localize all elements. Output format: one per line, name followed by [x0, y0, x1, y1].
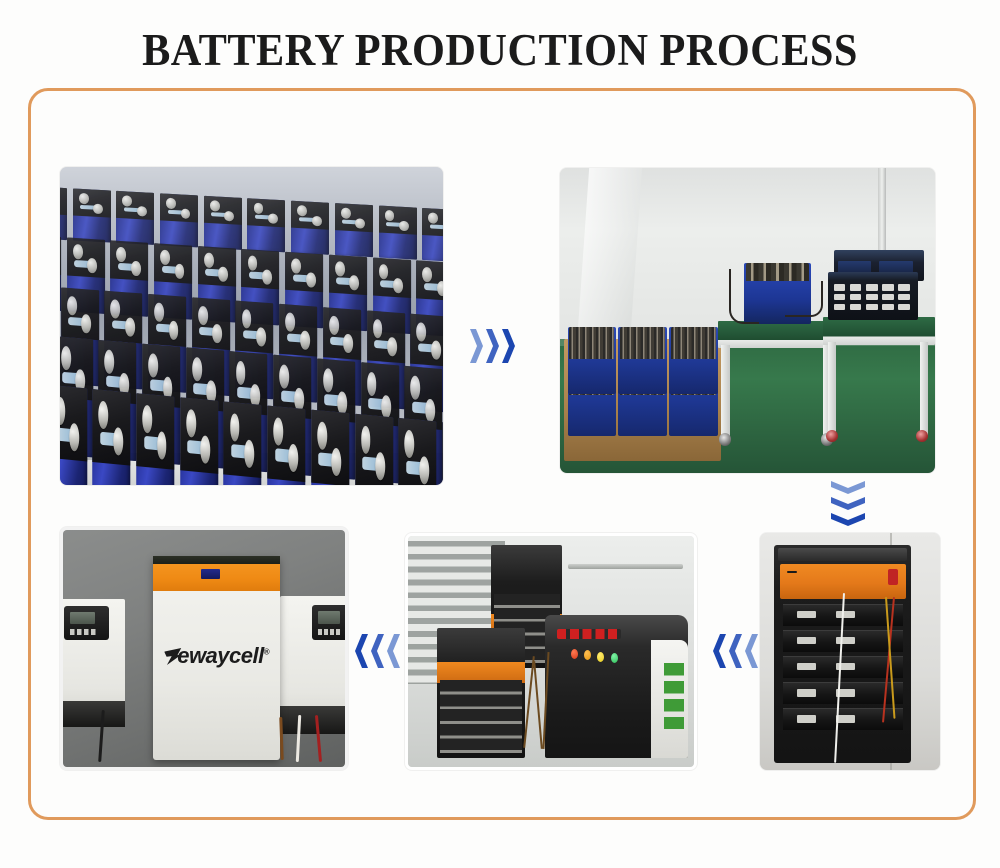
- cell-top: [67, 238, 105, 279]
- battery-cell: [335, 203, 373, 257]
- cell-terminal-positive: [204, 253, 214, 268]
- cell-top: [379, 206, 417, 235]
- arrow-assembly-to-product: [355, 634, 400, 668]
- battery-cell: [399, 418, 437, 485]
- cell-terminal-negative: [306, 273, 316, 288]
- battery-module-stack-4: [568, 327, 617, 394]
- cell-top: [61, 287, 99, 340]
- test-cable-bundle: [729, 269, 759, 324]
- battery-module-stack-5: [618, 327, 667, 394]
- indicator-lamp-yellow: [597, 652, 604, 662]
- cell-top: [268, 406, 306, 482]
- test-cable-2: [785, 281, 823, 318]
- cell-terminal-positive: [341, 208, 351, 219]
- battery-cell: [379, 206, 417, 260]
- chevron-left-icon: [355, 634, 368, 668]
- battery-cell: [292, 201, 330, 255]
- inverter-left: [60, 599, 125, 727]
- cell-terminal-negative: [268, 213, 278, 224]
- trademark-symbol: ®: [264, 648, 269, 657]
- cell-terminal-negative: [125, 317, 135, 337]
- workbench-2-top: [823, 317, 936, 344]
- cell-terminal-positive: [192, 357, 202, 381]
- indicator-lamp-green: [611, 653, 618, 663]
- battery-rack-front: [437, 628, 526, 757]
- page-title: BATTERY PRODUCTION PROCESS: [30, 24, 970, 76]
- cell-top: [204, 196, 242, 225]
- battery-cell: [160, 193, 198, 247]
- cell-top: [224, 402, 262, 478]
- cell-top: [180, 398, 218, 474]
- cell-top: [329, 255, 367, 296]
- battery-cell: [423, 208, 443, 262]
- photo-pack-assembly: [405, 533, 697, 770]
- arrow-testing-to-rack: [831, 481, 865, 526]
- battery-cell: [355, 414, 393, 485]
- cell-terminal-negative: [137, 206, 147, 217]
- photo-battery-rack: [760, 533, 940, 770]
- chevron-left-icon: [713, 634, 726, 668]
- wall-conduit: [568, 564, 682, 570]
- cell-terminal-negative: [425, 398, 435, 422]
- chevron-left-icon: [745, 634, 758, 668]
- cell-top: [73, 189, 111, 218]
- rack-connector-black: [787, 571, 797, 573]
- workbench-1-top: [718, 321, 834, 348]
- capacity-tester: [828, 272, 918, 321]
- inverter-right: [280, 596, 348, 733]
- cell-terminal-positive: [298, 205, 308, 216]
- cell-terminal-positive: [61, 346, 71, 370]
- cell-terminal-positive: [323, 368, 333, 392]
- cell-terminal-negative: [419, 456, 429, 485]
- cell-top: [311, 410, 349, 485]
- cell-top: [105, 290, 143, 343]
- cell-top: [373, 258, 411, 299]
- workbench-2-leg-right: [920, 342, 928, 437]
- cells-rows: [60, 167, 443, 485]
- cell-top: [248, 198, 286, 227]
- battery-display: [201, 569, 220, 579]
- battery-cell: [204, 196, 242, 250]
- chevron-left-icon: [729, 634, 742, 668]
- indicator-lamp-red: [571, 649, 578, 659]
- battery-cell: [60, 186, 67, 240]
- tewaycell-logo: ewaycell®: [164, 643, 269, 669]
- cell-top: [292, 201, 330, 230]
- battery-cell: [224, 402, 262, 485]
- workbench-2-leg-left: [828, 342, 836, 437]
- cell-top: [198, 246, 236, 287]
- chevron-down-icon: [831, 497, 865, 510]
- battery-cell: [93, 389, 131, 485]
- cell-terminal-negative: [312, 215, 322, 226]
- battery-cell: [268, 406, 306, 485]
- cell-top: [192, 297, 230, 350]
- cell-top: [286, 252, 324, 293]
- rack-cabinet: [774, 545, 911, 763]
- cell-top: [111, 241, 149, 282]
- indicator-lamp-orange: [584, 650, 591, 660]
- brand-name: ewaycell: [177, 643, 264, 668]
- cell-top: [149, 294, 187, 347]
- photo-battery-cells: [60, 167, 443, 485]
- chevron-right-icon: [502, 329, 515, 363]
- cell-top: [355, 414, 393, 485]
- photo-finished-product: ewaycell®: [60, 527, 348, 770]
- battery-cell: [117, 191, 155, 245]
- battery-cell: [180, 398, 218, 485]
- arrow-cells-to-testing: [470, 329, 515, 363]
- workbench-1-wheel-left: [719, 433, 731, 445]
- battery-cell: [60, 385, 87, 485]
- cell-top: [280, 303, 318, 356]
- cell-top: [335, 203, 373, 232]
- photo-cell-testing: [560, 168, 935, 473]
- rack-top-plate: [778, 548, 907, 561]
- rack-module-3: [783, 656, 903, 678]
- chevron-down-icon: [831, 481, 865, 494]
- wall-mounted-battery: ewaycell®: [153, 556, 280, 760]
- cell-top: [160, 193, 198, 222]
- infographic-page: BATTERY PRODUCTION PROCESS: [0, 0, 1000, 868]
- chevron-left-icon: [387, 634, 400, 668]
- rack-connector-red: [888, 569, 898, 585]
- battery-cell: [248, 198, 286, 252]
- cell-top: [236, 300, 274, 353]
- cell-top: [60, 186, 67, 215]
- cell-terminal-positive: [210, 200, 220, 211]
- cell-top: [155, 244, 193, 285]
- battery-cell: [311, 410, 349, 485]
- cell-top: [93, 389, 131, 465]
- chevron-right-icon: [470, 329, 483, 363]
- indicator-red-row: [557, 629, 621, 639]
- chevron-down-icon: [831, 513, 865, 526]
- cell-terminal-positive: [167, 198, 177, 209]
- cell-top: [60, 235, 61, 276]
- battery-cell: [137, 393, 175, 485]
- cell-top: [242, 249, 280, 290]
- arrow-rack-to-assembly: [713, 634, 758, 668]
- workbench-1-leg-left: [721, 345, 729, 437]
- aging-test-machine: [545, 615, 688, 758]
- cell-terminal-negative: [431, 340, 441, 360]
- cell-top: [367, 310, 405, 363]
- cell-top: [323, 307, 361, 360]
- cell-terminal-negative: [288, 444, 298, 473]
- cell-top: [137, 393, 175, 469]
- cell-terminal-positive: [79, 193, 89, 204]
- cell-top: [117, 191, 155, 220]
- chevron-right-icon: [486, 329, 499, 363]
- cell-terminal-positive: [73, 244, 83, 259]
- cell-terminal-negative: [300, 330, 310, 350]
- battery-cell: [73, 189, 111, 243]
- wall-pipe: [878, 168, 886, 260]
- chevron-left-icon: [371, 634, 384, 668]
- battery-module-stack-6: [669, 327, 718, 394]
